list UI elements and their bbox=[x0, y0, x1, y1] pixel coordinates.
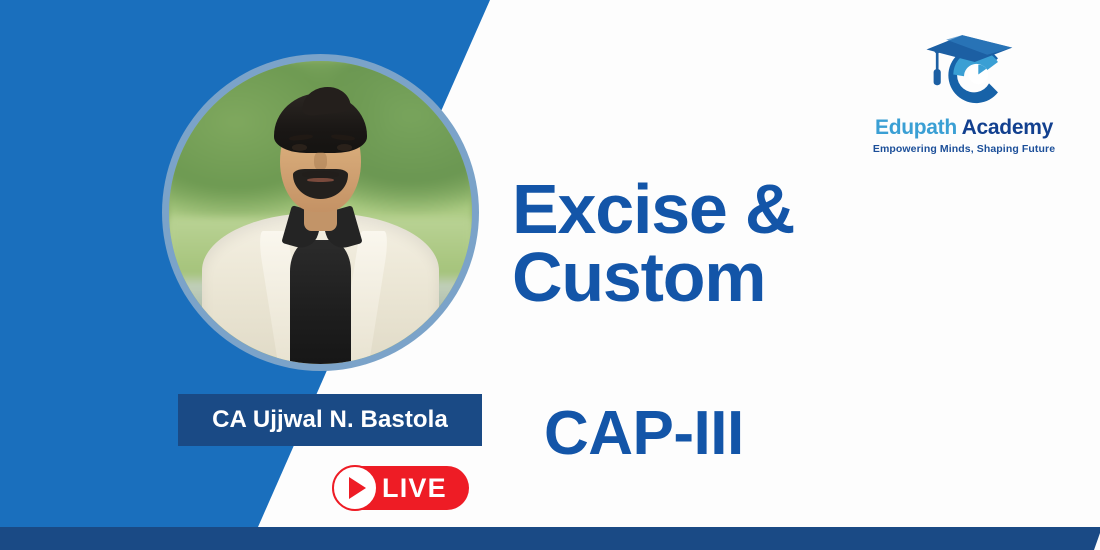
brand-logo: Edupath Academy Empowering Minds, Shapin… bbox=[866, 28, 1062, 155]
title-line-2: Custom bbox=[512, 244, 932, 312]
graduation-cap-e-logo bbox=[910, 28, 1018, 112]
live-badge[interactable]: LIVE bbox=[334, 466, 469, 510]
nose-shape bbox=[314, 152, 326, 170]
shirt-shape bbox=[290, 240, 351, 364]
play-triangle bbox=[349, 477, 366, 499]
hair-tuft bbox=[301, 84, 352, 116]
bottom-navy-strip bbox=[0, 527, 1100, 550]
live-label: LIVE bbox=[382, 473, 447, 504]
play-icon bbox=[332, 465, 378, 511]
instructor-photo bbox=[162, 54, 479, 371]
promo-banner: CA Ujjwal N. Bastola LIVE Excise & Custo… bbox=[0, 0, 1100, 550]
brand-name: Edupath Academy bbox=[875, 116, 1053, 140]
title-line-1: Excise & bbox=[512, 170, 794, 248]
course-code-label: CAP-III bbox=[544, 398, 744, 469]
instructor-name-banner: CA Ujjwal N. Bastola bbox=[178, 394, 482, 446]
instructor-figure bbox=[169, 61, 472, 364]
instructor-name-label: CA Ujjwal N. Bastola bbox=[212, 406, 448, 434]
brand-name-part2: Academy bbox=[962, 116, 1053, 139]
eye-left bbox=[292, 144, 307, 151]
brand-tagline: Empowering Minds, Shaping Future bbox=[873, 143, 1055, 155]
brand-name-part1: Edupath bbox=[875, 116, 962, 139]
page-title: Excise & Custom bbox=[512, 176, 932, 312]
instructor-photo-inner bbox=[169, 61, 472, 364]
mustache-shape bbox=[302, 171, 338, 178]
